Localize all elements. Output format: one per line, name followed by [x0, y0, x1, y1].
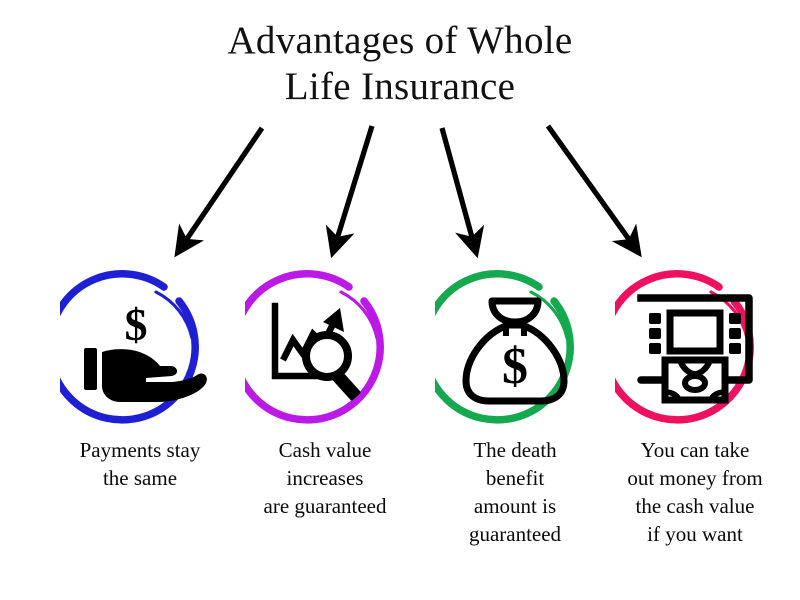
page-title-line-2: Life Insurance — [0, 64, 800, 110]
advantage-item-4[interactable]: You can take out money from the cash val… — [595, 268, 795, 548]
icon-ring-4 — [615, 268, 775, 428]
caption-line: if you want — [595, 520, 795, 548]
page-title: Advantages of Whole Life Insurance — [0, 18, 800, 110]
advantage-item-1[interactable]: $ Payments stay the same — [40, 268, 240, 492]
dollar-sign-icon: $ — [125, 299, 148, 350]
caption-line: benefit — [415, 464, 615, 492]
caption-line: Cash value — [225, 436, 425, 464]
caption-line: You can take — [595, 436, 795, 464]
caption-line: guaranteed — [415, 520, 615, 548]
svg-text:$: $ — [125, 299, 148, 350]
caption-line: Payments stay — [40, 436, 240, 464]
page-title-line-1: Advantages of Whole — [0, 18, 800, 64]
advantage-caption-4: You can take out money from the cash val… — [595, 436, 795, 548]
infographic-canvas: Advantages of Whole Life Insurance — [0, 0, 800, 600]
arrow-to-item-1 — [178, 128, 262, 252]
dollar-sign-icon: $ — [502, 338, 528, 395]
caption-line: The death — [415, 436, 615, 464]
arrow-to-item-2 — [333, 126, 372, 252]
atm-keys-right — [729, 313, 741, 354]
advantage-caption-1: Payments stay the same — [40, 436, 240, 492]
icon-ring-2 — [245, 268, 405, 428]
caption-line: out money from — [595, 464, 795, 492]
icon-ring-3: $ — [435, 268, 595, 428]
atm-keys-left — [649, 313, 661, 354]
icon-ring-1: $ — [60, 268, 220, 428]
caption-line: the cash value — [595, 492, 795, 520]
banknote-icon — [665, 360, 725, 400]
caption-line: amount is — [415, 492, 615, 520]
magnifier-icon — [306, 335, 361, 401]
atm-machine-icon — [641, 298, 749, 400]
caption-line: are guaranteed — [225, 492, 425, 520]
advantage-item-3[interactable]: $ The death benefit amount is guaranteed — [415, 268, 615, 548]
advantage-caption-2: Cash value increases are guaranteed — [225, 436, 425, 520]
caption-line: the same — [40, 464, 240, 492]
advantage-item-2[interactable]: Cash value increases are guaranteed — [225, 268, 425, 520]
advantage-items: $ Payments stay the same — [0, 268, 800, 588]
arrow-to-item-3 — [442, 128, 476, 252]
advantage-caption-3: The death benefit amount is guaranteed — [415, 436, 615, 548]
caption-line: increases — [225, 464, 425, 492]
arrow-to-item-4 — [548, 126, 638, 252]
